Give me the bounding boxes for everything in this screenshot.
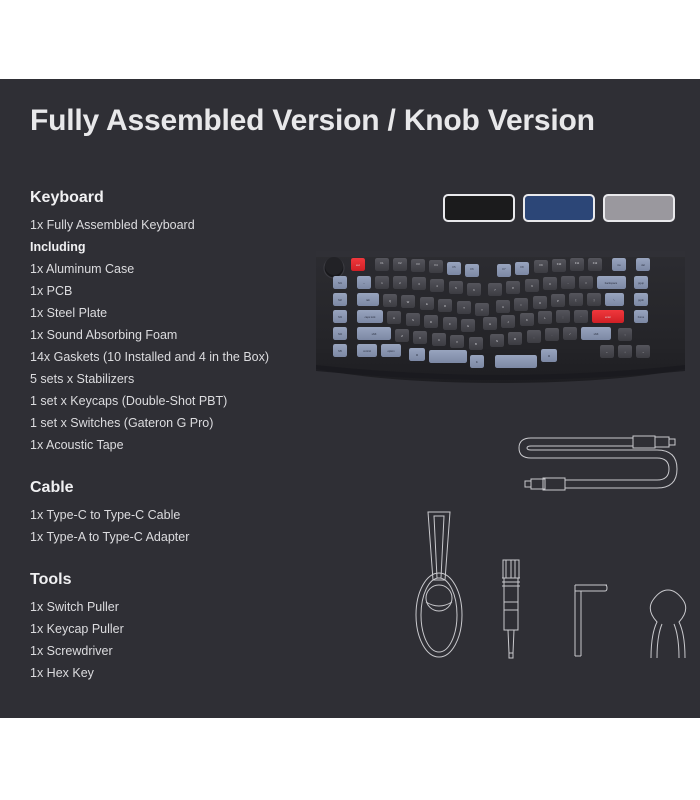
svg-text:Y: Y xyxy=(481,308,483,312)
page-title: Fully Assembled Version / Knob Version xyxy=(30,104,595,138)
switch-puller-icon xyxy=(416,512,462,657)
svg-text:Q: Q xyxy=(389,299,391,303)
svg-text:D: D xyxy=(430,320,432,324)
svg-text:O: O xyxy=(539,301,541,305)
section-tools: Tools 1x Switch Puller 1x Keycap Puller … xyxy=(30,570,330,684)
section-heading: Keyboard xyxy=(30,188,330,208)
svg-text:S: S xyxy=(412,318,414,322)
spec-item: 1x Type-A to Type-C Adapter xyxy=(30,526,330,548)
svg-text:M1: M1 xyxy=(338,281,342,285)
spec-item: 1x Aluminum Case xyxy=(30,258,330,280)
svg-text:R: R xyxy=(444,304,446,308)
svg-text:del: del xyxy=(641,263,645,267)
svg-text:↓: ↓ xyxy=(624,351,625,354)
svg-text:F10: F10 xyxy=(557,262,562,266)
svg-text:option: option xyxy=(387,349,395,353)
section-keyboard: Keyboard 1x Fully Assembled Keyboard Inc… xyxy=(30,188,330,456)
svg-text:H: H xyxy=(489,322,491,326)
spec-item: 1x Sound Absorbing Foam xyxy=(30,324,330,346)
spec-item: 1x Fully Assembled Keyboard xyxy=(30,214,330,236)
svg-text:V: V xyxy=(456,340,458,344)
spec-item: 1x PCB xyxy=(30,280,330,302)
keycap-puller-icon xyxy=(650,590,685,658)
svg-text:shift: shift xyxy=(594,332,599,336)
svg-text:caps lock: caps lock xyxy=(365,315,377,319)
svg-text:↑: ↑ xyxy=(624,334,625,337)
spec-list: Keyboard 1x Fully Assembled Keyboard Inc… xyxy=(30,188,330,684)
spec-item: 1x Type-C to Type-C Cable xyxy=(30,504,330,526)
svg-text:backspace: backspace xyxy=(605,281,618,285)
svg-text:home: home xyxy=(638,315,645,319)
spec-item: 14x Gaskets (10 Installed and 4 in the B… xyxy=(30,346,330,368)
spec-item: 1x Keycap Puller xyxy=(30,618,330,640)
svg-text:pgup: pgup xyxy=(638,282,644,285)
spec-item: 1x Screwdriver xyxy=(30,640,330,662)
spec-item: 1x Switch Puller xyxy=(30,596,330,618)
svg-text:→: → xyxy=(642,351,645,354)
svg-text:A: A xyxy=(393,316,395,320)
spec-item: 1x Acoustic Tape xyxy=(30,434,330,456)
svg-text:C: C xyxy=(438,338,440,342)
svg-text:M3: M3 xyxy=(338,315,342,319)
section-heading: Cable xyxy=(30,478,330,498)
color-swatch-navy-blue[interactable] xyxy=(523,194,595,222)
product-spec-page: Fully Assembled Version / Knob Version K… xyxy=(0,0,700,800)
spec-item: 5 sets x Stabilizers xyxy=(30,368,330,390)
svg-text:esc: esc xyxy=(356,264,361,267)
svg-text:M5: M5 xyxy=(338,349,342,353)
svg-text:B: B xyxy=(475,342,477,346)
tools-illustration xyxy=(405,510,695,665)
svg-text:control: control xyxy=(363,349,371,353)
spec-item: Including xyxy=(30,236,330,258)
spec-item: 1x Hex Key xyxy=(30,662,330,684)
svg-text:K: K xyxy=(526,318,528,322)
section-spacer xyxy=(30,456,330,478)
svg-text:shift: shift xyxy=(372,332,377,336)
section-heading: Tools xyxy=(30,570,330,590)
svg-text:F11: F11 xyxy=(575,261,580,265)
svg-text:E: E xyxy=(426,302,428,306)
spec-item: 1 set x Keycaps (Double-Shot PBT) xyxy=(30,390,330,412)
spec-item: 1x Steel Plate xyxy=(30,302,330,324)
svg-text:-: - xyxy=(568,282,569,285)
section-spacer xyxy=(30,548,330,570)
svg-text:P: P xyxy=(557,299,559,303)
svg-text:enter: enter xyxy=(605,315,611,319)
svg-text:M4: M4 xyxy=(338,332,342,336)
hex-key-icon xyxy=(575,585,607,656)
spec-item: 1 set x Switches (Gateron G Pro) xyxy=(30,412,330,434)
screwdriver-icon xyxy=(502,560,520,658)
svg-text:M: M xyxy=(514,337,516,341)
svg-text:←: ← xyxy=(606,351,609,354)
tools-svg xyxy=(405,510,695,665)
section-cable: Cable 1x Type-C to Type-C Cable 1x Type-… xyxy=(30,478,330,548)
svg-text:F12: F12 xyxy=(593,261,598,265)
svg-text:pgdn: pgdn xyxy=(638,298,644,302)
svg-text:tab: tab xyxy=(366,298,370,302)
svg-text:⌘: ⌘ xyxy=(416,353,419,357)
svg-text:M2: M2 xyxy=(338,298,342,302)
svg-text:U: U xyxy=(502,305,504,309)
svg-text:X: X xyxy=(419,336,421,340)
keyboard-image: esc F1 F2 F3 F4 F5 F6 F7 F8 F9 F10 F11 F… xyxy=(313,249,688,386)
svg-text:⌘: ⌘ xyxy=(548,354,551,358)
color-swatch-carbon-black[interactable] xyxy=(443,194,515,222)
color-swatch-silver-grey[interactable] xyxy=(603,194,675,222)
color-swatch-group xyxy=(443,194,675,222)
keyboard-svg: esc F1 F2 F3 F4 F5 F6 F7 F8 F9 F10 F11 F… xyxy=(313,249,688,386)
svg-text:N: N xyxy=(496,339,498,343)
svg-text:G: G xyxy=(467,324,469,328)
